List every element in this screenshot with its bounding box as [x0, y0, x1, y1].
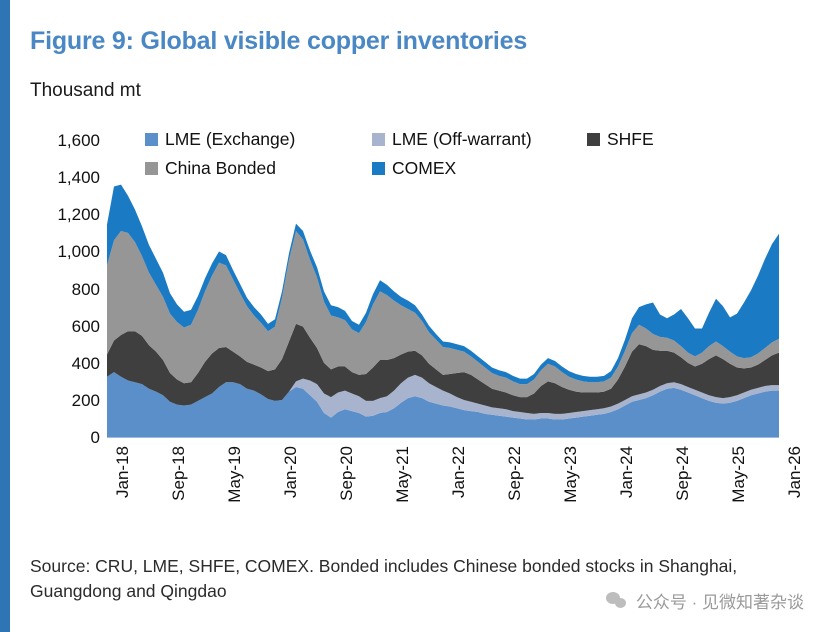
y-tick-label: 1,400 — [57, 168, 100, 188]
stacked-area-chart — [107, 141, 779, 438]
x-tick-label: Jan-20 — [281, 446, 301, 498]
accent-bar — [0, 0, 10, 632]
axis-unit-label: Thousand mt — [30, 80, 141, 102]
x-tick-label: May-21 — [393, 446, 413, 503]
watermark: 公众号 · 见微知著杂谈 — [606, 588, 804, 613]
y-tick-label: 200 — [72, 391, 100, 411]
y-tick-label: 800 — [72, 280, 100, 300]
x-tick-label: May-23 — [561, 446, 581, 503]
x-tick-label: Jan-24 — [617, 446, 637, 498]
y-tick-label: 1,000 — [57, 242, 100, 262]
y-tick-label: 400 — [72, 354, 100, 374]
y-tick-label: 1,600 — [57, 131, 100, 151]
x-axis: Jan-18Sep-18May-19Jan-20Sep-20May-21Jan-… — [0, 446, 822, 536]
y-tick-label: 0 — [91, 428, 100, 448]
plot-area — [107, 141, 779, 438]
x-tick-label: May-19 — [225, 446, 245, 503]
figure-title: Figure 9: Global visible copper inventor… — [30, 27, 527, 56]
x-tick-label: May-25 — [729, 446, 749, 503]
y-tick-label: 600 — [72, 317, 100, 337]
wechat-icon — [606, 592, 628, 610]
watermark-text: 公众号 · 见微知著杂谈 — [636, 588, 804, 613]
x-tick-label: Jan-18 — [113, 446, 133, 498]
x-tick-label: Sep-22 — [505, 446, 525, 501]
x-tick-label: Jan-22 — [449, 446, 469, 498]
y-tick-label: 1,200 — [57, 205, 100, 225]
x-tick-label: Jan-26 — [785, 446, 805, 498]
figure-root: Figure 9: Global visible copper inventor… — [0, 0, 822, 632]
x-tick-label: Sep-24 — [673, 446, 693, 501]
x-tick-label: Sep-20 — [337, 446, 357, 501]
y-axis: 02004006008001,0001,2001,4001,600 — [22, 131, 100, 451]
x-tick-label: Sep-18 — [169, 446, 189, 501]
